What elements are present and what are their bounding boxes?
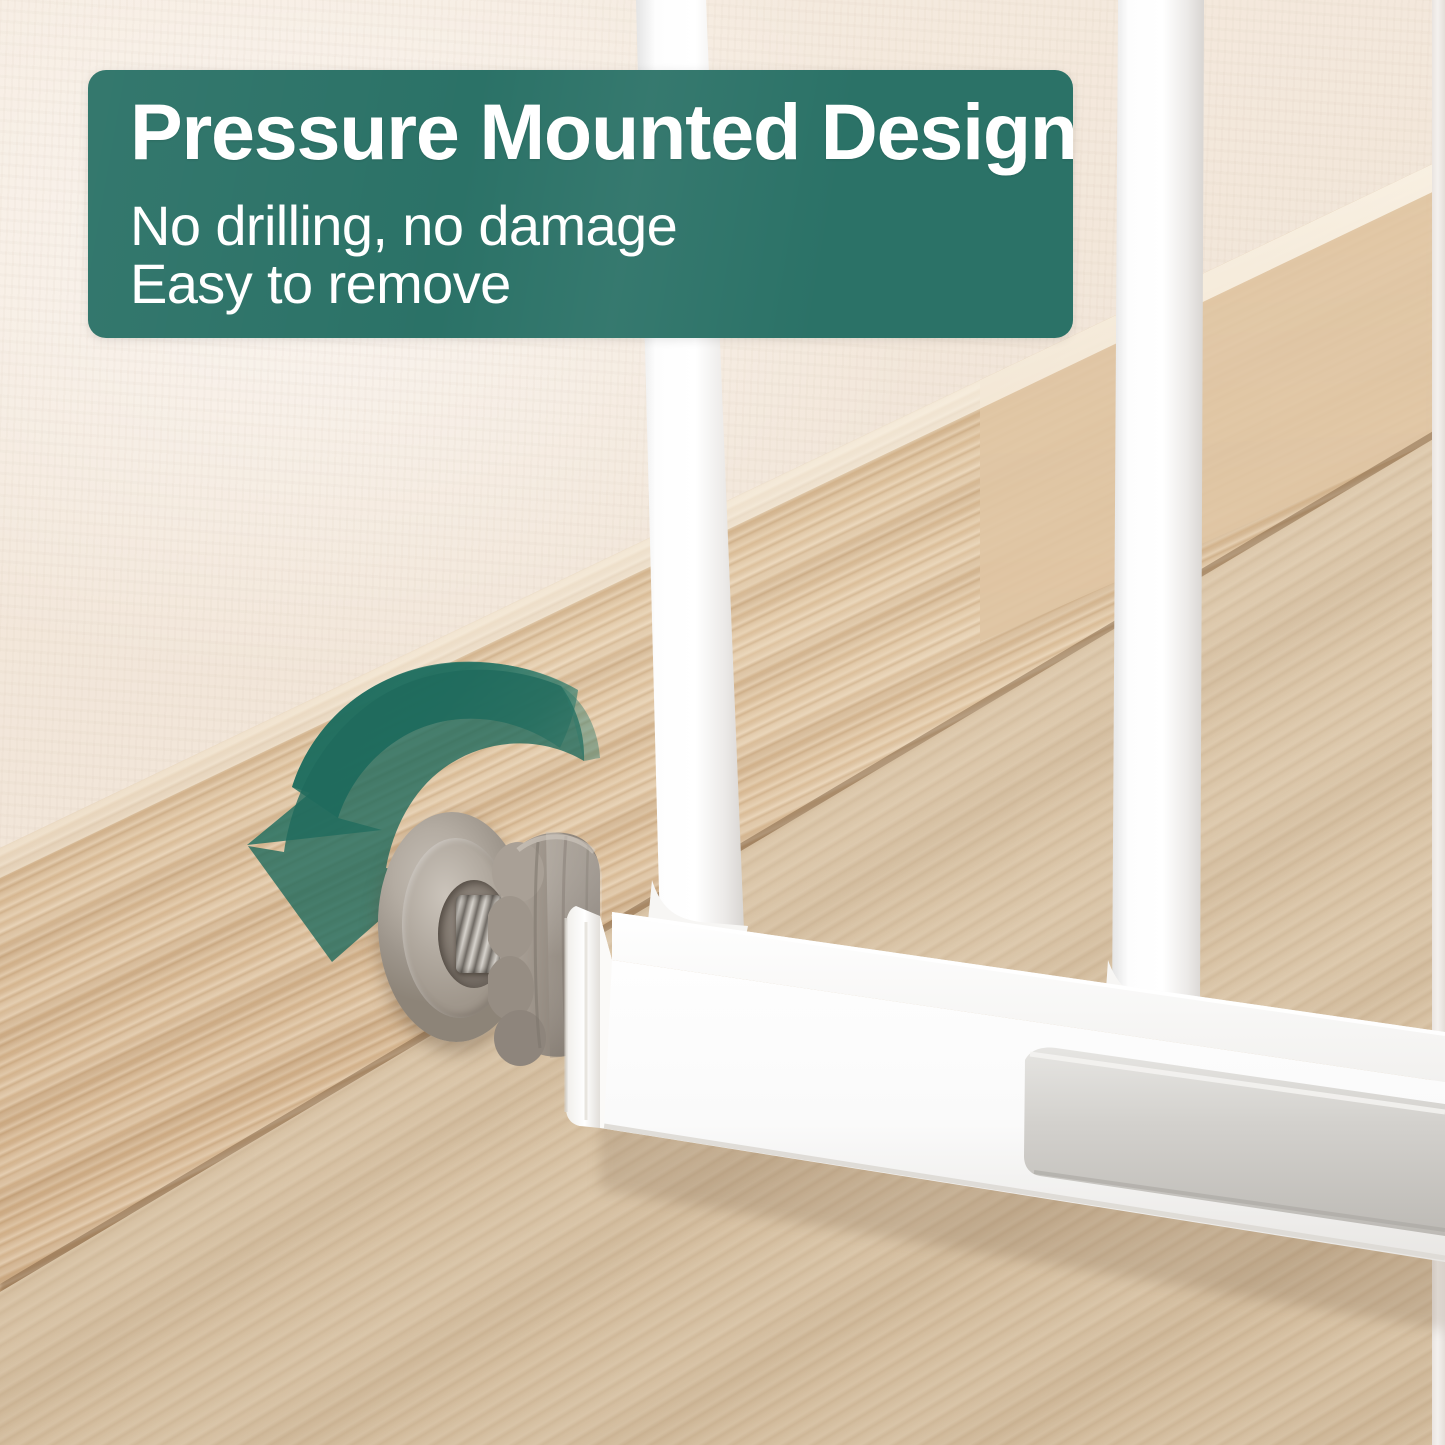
banner-subtitle-line-1: No drilling, no damage [130,198,677,254]
right-wall-trim [1432,0,1445,1445]
thumb-nut [488,816,610,1068]
product-feature-image: Pressure Mounted Design No drilling, no … [0,0,1445,1445]
feature-banner: Pressure Mounted Design No drilling, no … [88,70,1073,338]
banner-title: Pressure Mounted Design [130,92,1073,171]
banner-subtitle-line-2: Easy to remove [130,256,511,312]
